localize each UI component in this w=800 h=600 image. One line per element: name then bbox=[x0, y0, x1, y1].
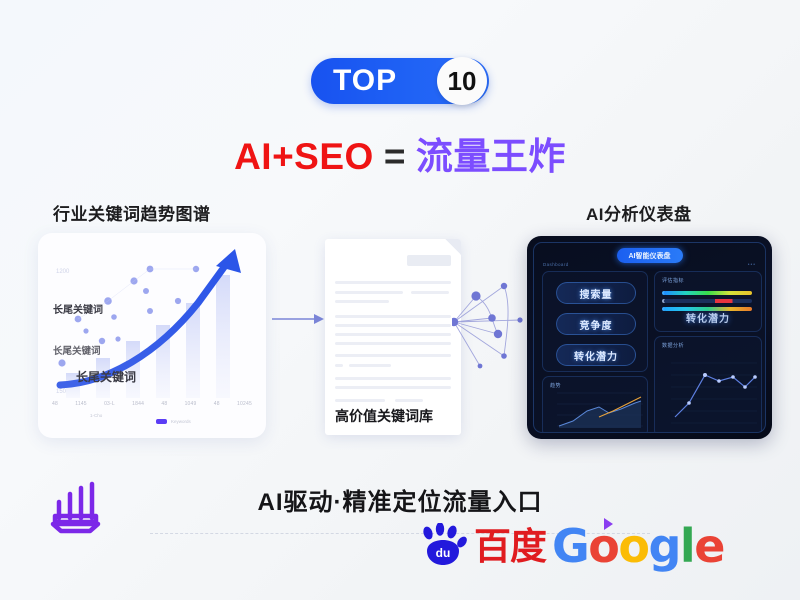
metric-pill-conversion[interactable]: 转化潜力 bbox=[556, 344, 636, 366]
dashboard-brand-label: Dashboard bbox=[543, 262, 569, 267]
footer-tagline: AI驱动·精准定位流量入口 bbox=[0, 482, 800, 517]
top-rank-badge: TOP 10 bbox=[311, 58, 489, 104]
trend-label-2: 长尾关键词 bbox=[53, 343, 101, 357]
trend-axis-sublabel: 1-Cho bbox=[90, 413, 102, 418]
left-section-caption: 行业关键词趋势图谱 bbox=[53, 200, 211, 225]
trend-chart-svg: 1200 150 bbox=[38, 233, 266, 438]
metric-pill-search-volume[interactable]: 搜索量 bbox=[556, 282, 636, 304]
axis-tick: 48 bbox=[52, 401, 58, 407]
google-letter: g bbox=[648, 519, 679, 573]
dashboard-menu-icon[interactable]: ••• bbox=[748, 262, 756, 268]
right-section-caption: AI分析仪表盘 bbox=[586, 200, 692, 225]
legend-label: Keywords bbox=[171, 419, 191, 424]
document-fold-icon bbox=[445, 239, 461, 255]
dashboard-gauge-panel: 评估指标 转化潜力 bbox=[654, 271, 762, 332]
baidu-paw-icon: du bbox=[418, 523, 468, 569]
keyword-document-card: 高价值关键词库 bbox=[325, 239, 461, 435]
trend-legend: Keywords bbox=[156, 419, 191, 424]
ai-dashboard-card: AI智能仪表盘 Dashboard ••• 搜索量 竞争度 转化潜力 趋势 bbox=[527, 236, 772, 439]
google-letter: G bbox=[552, 519, 588, 573]
page-title: AI+SEO=流量王炸 bbox=[0, 126, 800, 180]
top-badge-word: TOP bbox=[333, 66, 397, 96]
headline-left: AI+SEO bbox=[234, 136, 374, 177]
headline-equals: = bbox=[384, 136, 406, 177]
dashboard-title-badge: AI智能仪表盘 bbox=[617, 248, 683, 263]
flow-arrow-icon bbox=[272, 312, 324, 331]
node-network-graph bbox=[452, 272, 530, 377]
infographic-canvas: TOP 10 AI+SEO=流量王炸 行业关键词趋势图谱 AI分析仪表盘 bbox=[0, 0, 800, 600]
dashboard-line-chart-panel: 数据分析 bbox=[654, 336, 762, 433]
axis-tick: 1049 bbox=[185, 401, 197, 407]
legend-swatch-icon bbox=[156, 419, 167, 424]
svg-text:150: 150 bbox=[56, 389, 67, 395]
axis-tick: 1145 bbox=[75, 401, 87, 407]
axis-tick: 1844 bbox=[132, 401, 144, 407]
svg-text:1200: 1200 bbox=[56, 269, 70, 275]
baidu-wordmark: 百度 bbox=[474, 528, 546, 565]
document-header-chip bbox=[407, 255, 451, 266]
google-letter: e bbox=[694, 519, 724, 573]
google-letter: o bbox=[618, 519, 648, 573]
axis-tick: 03-L bbox=[104, 401, 115, 407]
trend-label-3: 长尾关键词 bbox=[76, 368, 136, 385]
axis-tick: 48 bbox=[214, 401, 220, 407]
bar-chart-pedestal-icon bbox=[47, 478, 109, 541]
dashboard-area-chart-panel: 趋势 bbox=[542, 376, 648, 433]
trend-axis-ticks: 48 1145 03-L 1844 48 1049 48 10245 bbox=[52, 401, 252, 407]
search-engine-logos: du 百度 Google bbox=[418, 523, 724, 569]
axis-tick: 48 bbox=[161, 401, 167, 407]
headline-right: 流量王炸 bbox=[416, 136, 566, 177]
dashboard-metrics-panel: 搜索量 竞争度 转化潜力 bbox=[542, 271, 648, 372]
trend-label-1: 长尾关键词 bbox=[53, 301, 103, 316]
google-wordmark: Google bbox=[552, 523, 724, 569]
gauge-panel-title: 评估指标 bbox=[662, 277, 684, 284]
keyword-trend-card: 1200 150 长尾关键词 长尾关键词 长尾关键词 48 1145 03-L … bbox=[38, 233, 266, 438]
document-title: 高价值关键词库 bbox=[335, 406, 433, 426]
dashboard-screen: AI智能仪表盘 Dashboard ••• 搜索量 竞争度 转化潜力 趋势 bbox=[533, 242, 766, 433]
gauge-overlay-label: 转化潜力 bbox=[655, 310, 761, 325]
play-triangle-icon bbox=[604, 518, 613, 530]
svg-text:du: du bbox=[436, 546, 451, 560]
google-letter: l bbox=[680, 519, 694, 573]
top-badge-number: 10 bbox=[437, 57, 487, 105]
axis-tick: 10245 bbox=[237, 401, 252, 407]
metric-pill-competition[interactable]: 竞争度 bbox=[556, 313, 636, 335]
